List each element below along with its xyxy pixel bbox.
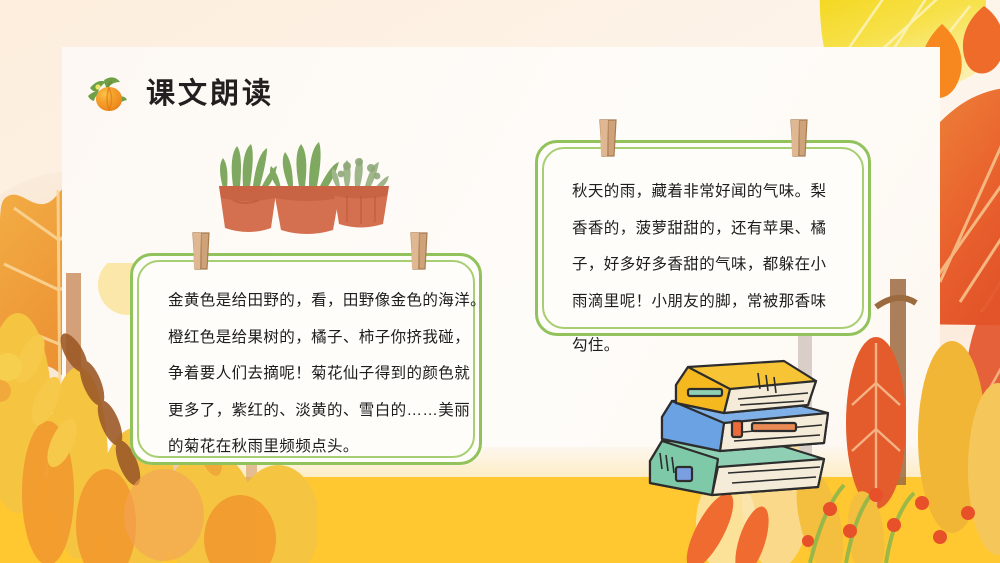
note-card-right-text: 秋天的雨，藏着非常好闻的气味。梨 香香的，菠萝甜甜的，还有苹果、橘 子，好多好多…: [535, 140, 871, 320]
card-line: 子，好多好多香甜的气味，都躲在小: [572, 247, 871, 284]
page-title: 课文朗读: [146, 80, 274, 109]
slide-canvas: 课文朗读: [0, 0, 1000, 563]
note-card-right-overflow-line: 勾住。: [572, 328, 620, 365]
card-line: 争着要人们去摘呢！菊花仙子得到的颜色就: [168, 356, 482, 393]
clothespin-icon: [788, 118, 810, 158]
card-line: 的菊花在秋雨里频频点头。: [168, 429, 482, 466]
book-stack-illustration: [648, 355, 838, 505]
card-line: 雨滴里呢！小朋友的脚，常被那香味: [572, 284, 871, 321]
note-card-right: 秋天的雨，藏着非常好闻的气味。梨 香香的，菠萝甜甜的，还有苹果、橘 子，好多好多…: [535, 140, 871, 336]
note-card-left: 金黄色是给田野的，看，田野像金色的海洋。 橙红色是给果树的，橘子、柿子你挤我碰，…: [130, 253, 482, 465]
slide-header: 课文朗读: [84, 72, 274, 116]
card-line: 香香的，菠萝甜甜的，还有苹果、橘: [572, 211, 871, 248]
card-line: 橙红色是给果树的，橘子、柿子你挤我碰，: [168, 320, 482, 357]
leaf-orange-small-2-icon: [962, 6, 1000, 78]
card-line: 金黄色是给田野的，看，田野像金色的海洋。: [168, 283, 482, 320]
clothespin-icon: [597, 118, 619, 158]
succulent-plants-illustration: [203, 138, 389, 246]
clothespin-icon: [408, 231, 430, 271]
pumpkin-icon: [84, 72, 128, 116]
card-line: 秋天的雨，藏着非常好闻的气味。梨: [572, 174, 871, 211]
note-card-left-text: 金黄色是给田野的，看，田野像金色的海洋。 橙红色是给果树的，橘子、柿子你挤我碰，…: [130, 253, 482, 466]
card-line: 更多了，紫红的、淡黄的、雪白的……美丽: [168, 393, 482, 430]
clothespin-icon: [190, 231, 212, 271]
